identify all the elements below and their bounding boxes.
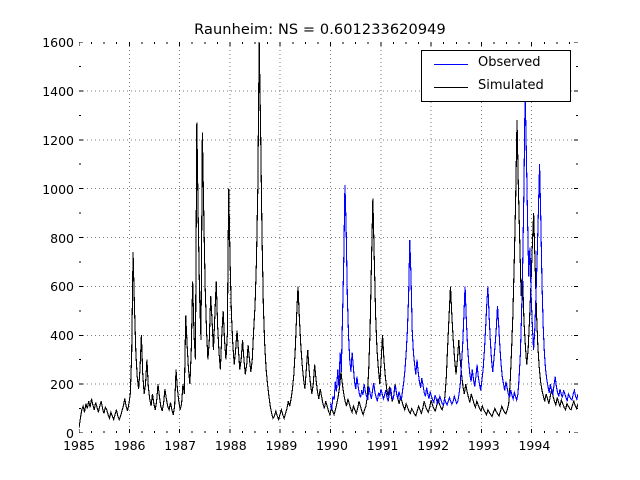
y-tick-label: 1400	[10, 84, 74, 99]
legend: Observed Simulated	[421, 50, 571, 102]
y-tick-label: 1000	[10, 182, 74, 197]
figure-canvas: Raunheim: NS = 0.601233620949 1600 1400 …	[0, 0, 640, 480]
legend-label-observed: Observed	[478, 55, 541, 70]
series-line-observed	[331, 91, 578, 410]
y-tick-label: 1200	[10, 133, 74, 148]
legend-item-simulated: Simulated	[422, 76, 572, 100]
legend-item-observed: Observed	[422, 53, 572, 77]
y-tick-label: 800	[10, 231, 74, 246]
y-tick-label: 600	[10, 279, 74, 294]
x-tick-label: 1994	[504, 438, 564, 453]
legend-swatch-observed	[434, 64, 468, 65]
y-tick-label: 1600	[10, 35, 74, 50]
legend-label-simulated: Simulated	[478, 78, 544, 93]
y-tick-label: 200	[10, 377, 74, 392]
y-tick-label: 400	[10, 328, 74, 343]
legend-swatch-simulated	[434, 87, 468, 88]
